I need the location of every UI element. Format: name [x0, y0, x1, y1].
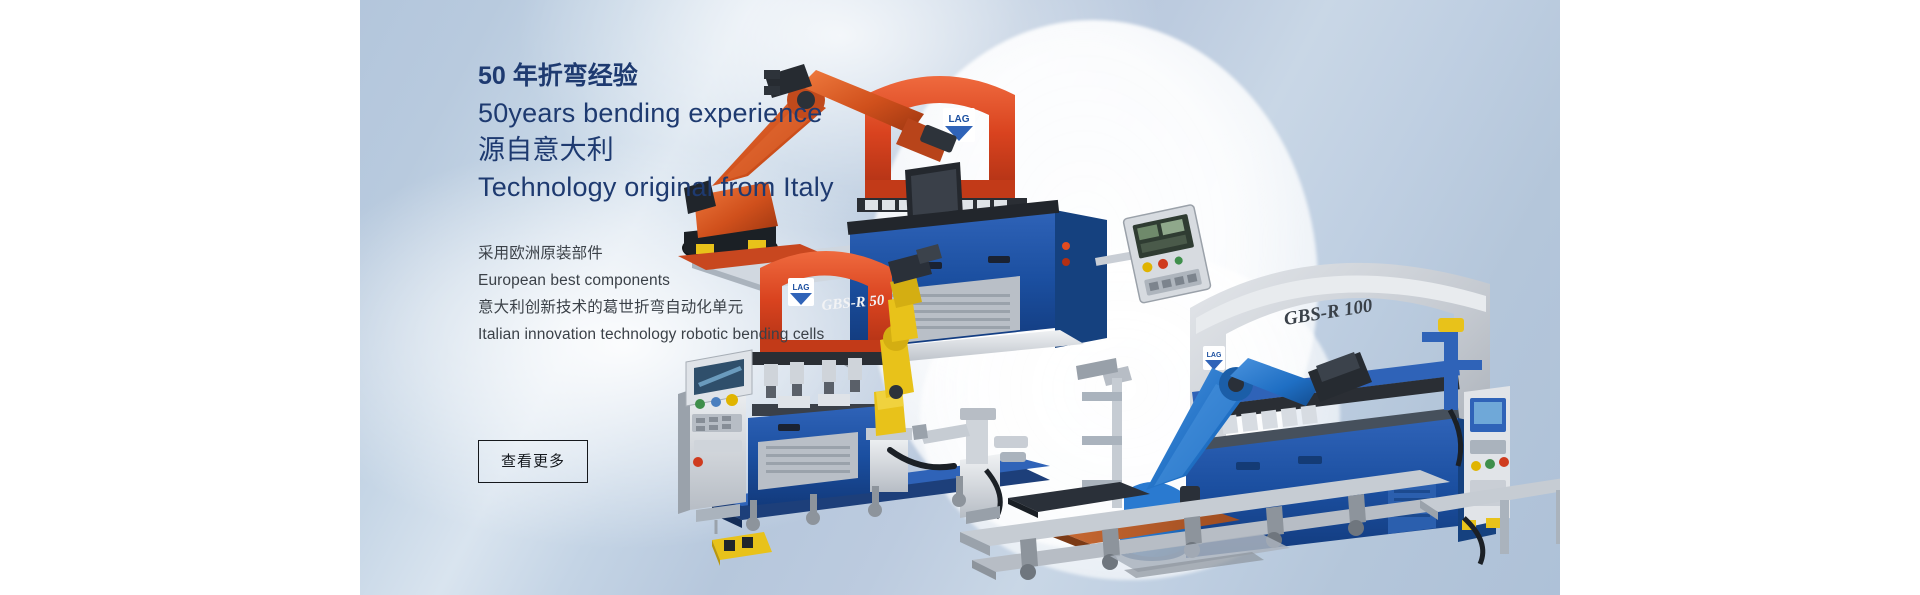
pendant-control-panel-top — [1095, 204, 1211, 303]
headline-line-1: 50 年折弯经验 — [478, 58, 1038, 95]
subcopy-line-2: European best components — [478, 267, 1038, 294]
banner-copy: 50 年折弯经验 50years bending experience 源自意大… — [478, 0, 1038, 348]
subcopy-line-3: 意大利创新技术的葛世折弯自动化单元 — [478, 294, 1038, 321]
lag-logo-gbsr100: LAG — [1203, 346, 1225, 370]
subcopy-line-1: 采用欧洲原装部件 — [478, 240, 1038, 267]
headline: 50 年折弯经验 50years bending experience 源自意大… — [478, 0, 1038, 206]
view-more-button[interactable]: 查看更多 — [478, 440, 588, 483]
banner-stage: LAG — [0, 0, 1920, 595]
subcopy: 采用欧洲原装部件 European best components 意大利创新技… — [478, 206, 1038, 348]
cnc-control-cabinet — [678, 350, 752, 522]
hero-banner: LAG — [360, 0, 1560, 595]
headline-line-4: Technology original from Italy — [478, 169, 1038, 206]
headline-line-2: 50years bending experience — [478, 95, 1038, 132]
headline-line-3: 源自意大利 — [478, 132, 1038, 169]
svg-text:LAG: LAG — [1207, 352, 1222, 359]
subcopy-line-4: Italian innovation technology robotic be… — [478, 321, 1038, 348]
